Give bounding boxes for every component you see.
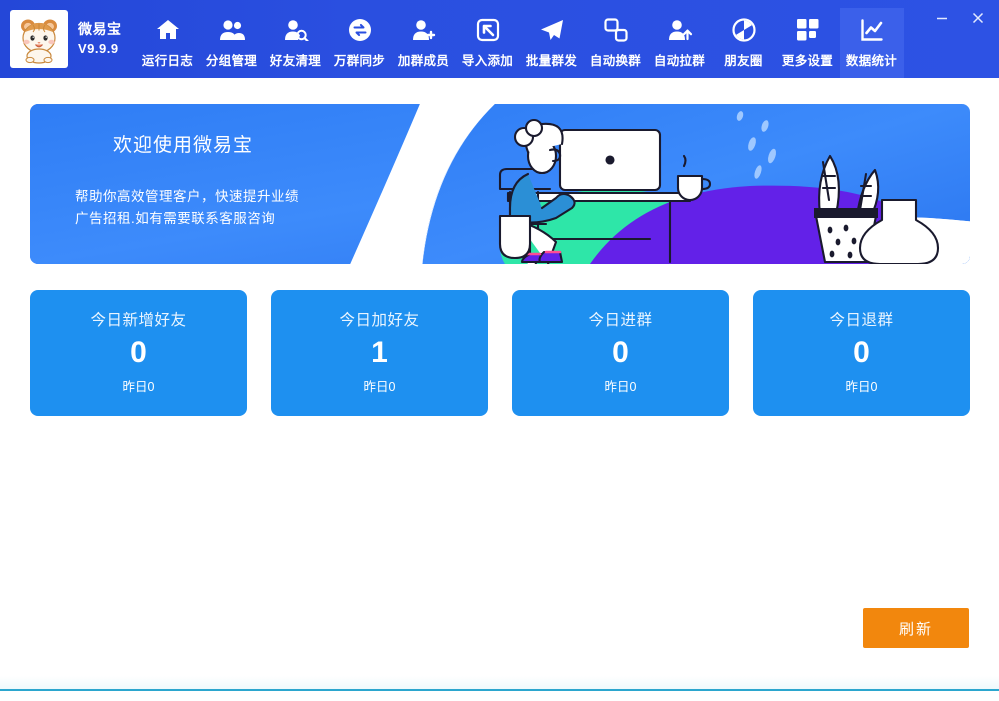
stat-card-value: 0 [612, 336, 629, 370]
welcome-banner: 欢迎使用微易宝 帮助你高效管理客户，快速提升业绩 广告招租.如有需要联系客服咨询 [30, 104, 970, 264]
refresh-button[interactable]: 刷新 [863, 608, 969, 648]
brand-version: V9.9.9 [78, 41, 122, 57]
bottom-accent-line [0, 689, 999, 691]
nav-item-add-group-member[interactable]: 加群成员 [392, 8, 456, 78]
stat-card-title: 今日新增好友 [90, 308, 186, 330]
brand-name: 微易宝 [78, 21, 122, 39]
nav-item-auto-switch-group[interactable]: 自动换群 [584, 8, 648, 78]
user-add-icon [409, 17, 439, 43]
nav-label: 自动拉群 [654, 50, 705, 69]
stat-card-value: 1 [371, 336, 388, 370]
user-up-arrow-icon [665, 17, 695, 43]
line-chart-icon [857, 17, 887, 43]
banner-subtitle-line1: 帮助你高效管理客户，快速提升业绩 [75, 186, 460, 208]
nav-item-mass-send[interactable]: 批量群发 [520, 8, 584, 78]
stat-card-yesterday: 昨日0 [605, 376, 637, 395]
stat-cards: 今日新增好友 0 昨日0 今日加好友 1 昨日0 今日进群 0 昨日0 今日退群… [30, 290, 970, 416]
brand-area: 微易宝 V9.9.9 [0, 0, 122, 78]
send-paper-plane-icon [537, 17, 567, 43]
banner-subtitle-line2: 广告招租.如有需要联系客服咨询 [75, 208, 460, 230]
nav-item-more-settings[interactable]: 更多设置 [776, 8, 840, 78]
stat-card-yesterday: 昨日0 [364, 376, 396, 395]
nav-label: 分组管理 [206, 50, 257, 69]
minimize-icon [934, 10, 950, 26]
banner-title: 欢迎使用微易宝 [113, 130, 460, 157]
stat-card-joined-groups-today[interactable]: 今日进群 0 昨日0 [512, 290, 729, 416]
stat-card-yesterday: 昨日0 [123, 376, 155, 395]
close-button[interactable] [965, 6, 991, 30]
window-controls [929, 6, 991, 30]
close-icon [970, 10, 986, 26]
minimize-button[interactable] [929, 6, 955, 30]
stat-card-title: 今日进群 [588, 308, 652, 330]
import-arrow-icon [473, 17, 503, 43]
swap-squares-icon [601, 17, 631, 43]
sync-exchange-icon [345, 17, 375, 43]
main-navbar: 微易宝 V9.9.9 运行日志 分组管理 [0, 0, 999, 78]
nav-label: 批量群发 [526, 50, 577, 69]
nav-label: 万群同步 [334, 50, 385, 69]
nav-item-group-manage[interactable]: 分组管理 [200, 8, 264, 78]
stat-card-left-groups-today[interactable]: 今日退群 0 昨日0 [753, 290, 970, 416]
home-icon [153, 17, 183, 43]
hamster-mascot-logo-icon [13, 13, 65, 65]
nav-item-auto-pull-group[interactable]: 自动拉群 [648, 8, 712, 78]
camera-aperture-icon [729, 17, 759, 43]
nav-label: 运行日志 [142, 50, 193, 69]
nav-item-group-sync[interactable]: 万群同步 [328, 8, 392, 78]
nav-label: 自动换群 [590, 50, 641, 69]
users-group-icon [217, 17, 247, 43]
stat-card-title: 今日退群 [829, 308, 893, 330]
nav-label: 朋友圈 [724, 50, 762, 69]
nav-label: 更多设置 [782, 50, 833, 69]
user-search-icon [281, 17, 311, 43]
grid-squares-icon [793, 17, 823, 43]
nav-label: 数据统计 [846, 50, 897, 69]
nav-item-moments[interactable]: 朋友圈 [712, 8, 776, 78]
stat-card-new-friends-today[interactable]: 今日新增好友 0 昨日0 [30, 290, 247, 416]
bottom-fade [0, 676, 999, 689]
stat-card-yesterday: 昨日0 [846, 376, 878, 395]
nav-item-run-log[interactable]: 运行日志 [136, 8, 200, 78]
stat-card-value: 0 [130, 336, 147, 370]
nav-label: 导入添加 [462, 50, 513, 69]
nav-items: 运行日志 分组管理 [136, 0, 904, 78]
banner-text-panel: 欢迎使用微易宝 帮助你高效管理客户，快速提升业绩 广告招租.如有需要联系客服咨询 [30, 104, 460, 264]
app-logo [10, 10, 68, 68]
stat-card-value: 0 [853, 336, 870, 370]
app-window: 微易宝 V9.9.9 运行日志 分组管理 [0, 0, 999, 701]
nav-item-data-statistics[interactable]: 数据统计 [840, 8, 904, 78]
brand-text: 微易宝 V9.9.9 [78, 21, 122, 58]
nav-item-import-add[interactable]: 导入添加 [456, 8, 520, 78]
nav-item-friend-clean[interactable]: 好友清理 [264, 8, 328, 78]
nav-label: 加群成员 [398, 50, 449, 69]
nav-label: 好友清理 [270, 50, 321, 69]
stat-card-added-friends-today[interactable]: 今日加好友 1 昨日0 [271, 290, 488, 416]
stat-card-title: 今日加好友 [339, 308, 419, 330]
